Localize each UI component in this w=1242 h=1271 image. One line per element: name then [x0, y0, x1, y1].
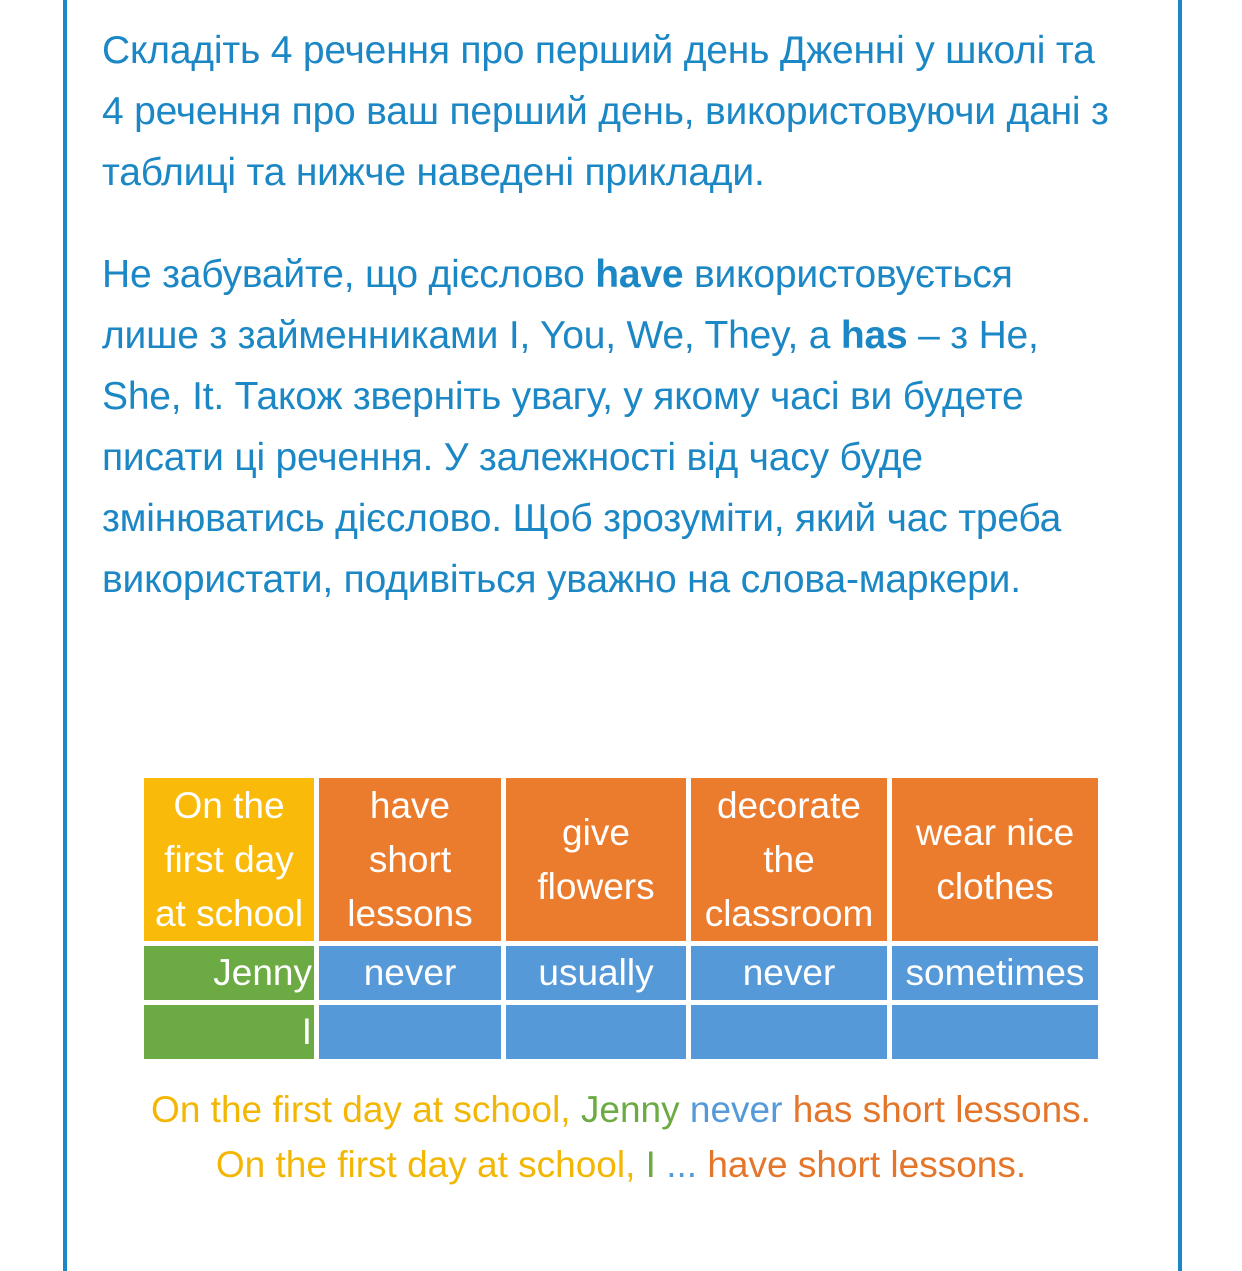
header-cell-verb-2: give flowers	[506, 778, 686, 941]
paragraph-2-part-1: Не забувайте, що дієслово	[102, 253, 595, 296]
right-accent-rule	[1178, 0, 1182, 1271]
adverb-cell-i-3[interactable]	[691, 1005, 887, 1059]
header-cell-verb-4: wear nice clothes	[892, 778, 1098, 941]
sentence-builder-table: On the first day at school have short le…	[144, 778, 1098, 1059]
verb-2-line-2: flowers	[537, 860, 654, 914]
example-2-adverb: ...	[656, 1144, 697, 1185]
example-sentence-2: On the first day at school, I ... have s…	[144, 1137, 1098, 1192]
verb-1-line-3: lessons	[347, 887, 472, 941]
paragraph-2-part-3: – з He, She, It. Також зверніть увагу, у…	[102, 314, 1061, 601]
header-cell-verb-3: decorate the classroom	[691, 778, 887, 941]
keyword-have: have	[595, 253, 683, 296]
left-accent-rule	[63, 0, 67, 1271]
verb-3-line-3: classroom	[705, 887, 874, 941]
instruction-paragraph-2: Не забувайте, що дієслово have використо…	[102, 244, 1112, 610]
time-phrase-line-1: On the	[155, 779, 303, 833]
adverb-cell-jenny-1: never	[319, 946, 501, 1000]
example-sentences: On the first day at school, Jenny never …	[144, 1082, 1098, 1192]
verb-3-line-2: the	[705, 833, 874, 887]
verb-1-line-1: have	[347, 779, 472, 833]
time-phrase-line-2: first day	[155, 833, 303, 887]
worksheet-page: Складіть 4 речення про перший день Дженн…	[0, 0, 1242, 1271]
verb-4-line-2: clothes	[916, 860, 1074, 914]
example-1-subject: Jenny	[571, 1089, 680, 1130]
adverb-cell-i-4[interactable]	[892, 1005, 1098, 1059]
example-1-time: On the first day at school,	[151, 1089, 571, 1130]
instruction-paragraph-1: Складіть 4 речення про перший день Дженн…	[102, 0, 1112, 203]
adverb-cell-i-2[interactable]	[506, 1005, 686, 1059]
example-2-verb: have short lessons.	[697, 1144, 1026, 1185]
subject-cell-jenny: Jenny	[144, 946, 314, 1000]
verb-4-line-1: wear nice	[916, 806, 1074, 860]
adverb-cell-i-1[interactable]	[319, 1005, 501, 1059]
example-1-verb: has short lessons.	[782, 1089, 1090, 1130]
adverb-cell-jenny-4: sometimes	[892, 946, 1098, 1000]
example-2-subject: I	[635, 1144, 656, 1185]
keyword-has: has	[841, 314, 908, 357]
verb-3-line-1: decorate	[705, 779, 874, 833]
time-phrase-line-3: at school	[155, 887, 303, 941]
header-cell-time-phrase: On the first day at school	[144, 778, 314, 941]
adverb-cell-jenny-3: never	[691, 946, 887, 1000]
header-cell-verb-1: have short lessons	[319, 778, 501, 941]
verb-2-line-1: give	[537, 806, 654, 860]
table-row-jenny: Jenny never usually never sometimes	[144, 946, 1098, 1000]
subject-cell-i: I	[144, 1005, 314, 1059]
instructions-block: Складіть 4 речення про перший день Дженн…	[102, 0, 1112, 610]
verb-1-line-2: short	[347, 833, 472, 887]
example-sentence-1: On the first day at school, Jenny never …	[144, 1082, 1098, 1137]
example-2-time: On the first day at school,	[216, 1144, 636, 1185]
example-1-adverb: never	[680, 1089, 783, 1130]
table-row-i: I	[144, 1005, 1098, 1059]
adverb-cell-jenny-2: usually	[506, 946, 686, 1000]
table-header-row: On the first day at school have short le…	[144, 778, 1098, 941]
